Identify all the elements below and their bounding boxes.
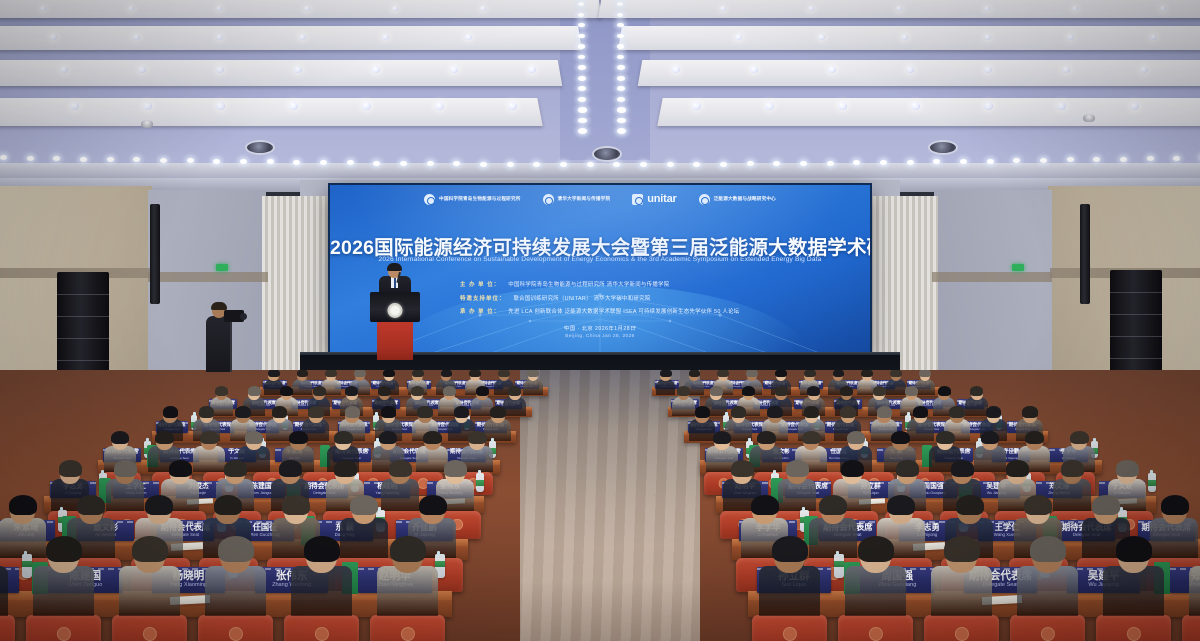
audience-chair xyxy=(1096,615,1171,641)
attendee-hair xyxy=(819,495,847,516)
cove-light-dot xyxy=(400,161,407,166)
water-bottle xyxy=(1148,473,1156,493)
attendee-hair xyxy=(877,406,893,417)
attendee-hair xyxy=(896,460,918,477)
attendee-hair xyxy=(767,406,783,417)
spine-light-dot xyxy=(578,128,587,134)
cove-light-dot xyxy=(827,161,834,166)
attendee-hair xyxy=(887,495,915,516)
audience-chair xyxy=(1010,615,1085,641)
exit-sign-right xyxy=(1012,264,1024,271)
right-gray-dado xyxy=(932,272,1052,282)
organizer-value: 联合国训练研究所（UNITAR） 清华大学碳中和研究院 xyxy=(513,294,650,302)
audience-member xyxy=(205,539,268,613)
organizer-row: 承 办 单 位：先进 LCA 创新联合体 泛能源大数据学术联盟 ISEA 可持续… xyxy=(460,307,860,315)
cove-light-dot xyxy=(560,162,567,167)
spine-light-dot xyxy=(617,2,623,6)
conference-title-english: 2026 International Conference on Sustain… xyxy=(330,256,870,263)
attendee-hair xyxy=(454,406,470,417)
attendee-hair xyxy=(695,406,711,417)
ceiling-step-left-3 xyxy=(0,60,562,86)
cove-light-dot xyxy=(693,162,700,167)
attendee-hair xyxy=(717,370,729,377)
downlight-icon xyxy=(216,34,223,40)
organizer-label: 主 办 单 位： xyxy=(460,280,500,288)
ceiling-step-left-4 xyxy=(0,98,543,126)
attendee-hair xyxy=(936,431,955,445)
downlight-icon xyxy=(450,66,458,73)
attendee-torso xyxy=(0,566,8,617)
spine-light-dot xyxy=(578,34,585,38)
attendee-hair xyxy=(9,495,37,516)
cove-light-dot xyxy=(213,159,220,164)
attendee-hair xyxy=(802,431,821,445)
attendee-hair xyxy=(751,495,779,516)
seat-number-badge xyxy=(229,627,243,641)
attendee-hair xyxy=(378,386,391,396)
audience-chair xyxy=(284,615,359,641)
downlight-icon xyxy=(1150,34,1157,40)
attendee-torso xyxy=(759,566,820,617)
left-gray-dado xyxy=(148,272,268,282)
unitar-logo-icon xyxy=(632,194,643,205)
downlight-icon xyxy=(289,102,298,110)
downlight-icon xyxy=(672,66,680,73)
downlight-icon xyxy=(528,66,536,73)
attendee-hair xyxy=(757,431,776,445)
attendee-hair xyxy=(1030,536,1066,562)
attendee-hair xyxy=(1025,431,1044,445)
seat-number-badge xyxy=(1127,627,1141,641)
bottle-label xyxy=(476,480,484,486)
downlight-icon xyxy=(1057,102,1066,110)
seat-number-badge xyxy=(57,627,71,641)
downlight-icon xyxy=(692,102,701,110)
attendee-hair xyxy=(775,370,787,377)
attendee-hair xyxy=(689,370,701,377)
cove-light-dot xyxy=(107,157,114,162)
attendee-hair xyxy=(490,406,506,417)
downlight-icon xyxy=(896,6,902,11)
spine-light-dot xyxy=(578,65,586,70)
logo-text: 清华大学新闻与传播学院 xyxy=(558,197,611,202)
podium-base xyxy=(377,321,413,360)
attendee-hair xyxy=(200,431,219,445)
attendee-hair xyxy=(245,431,264,445)
attendee-hair xyxy=(441,370,453,377)
cove-light-dot xyxy=(907,160,914,165)
attendee-hair xyxy=(847,431,866,445)
audience-member xyxy=(377,539,440,613)
camera-lens-icon xyxy=(240,313,247,320)
attendee-hair xyxy=(199,406,215,417)
speaker-stack-left xyxy=(57,272,109,382)
attendee-hair xyxy=(423,431,442,445)
downlight-icon xyxy=(735,34,742,40)
attendee-hair xyxy=(956,495,984,516)
cove-light-dot xyxy=(1147,156,1154,161)
attendee-hair xyxy=(873,386,886,396)
cove-light-dot xyxy=(667,162,674,167)
cove-light-dot xyxy=(1120,157,1127,162)
attendee-hair xyxy=(111,431,130,445)
audience-member xyxy=(1103,539,1166,613)
attendee-hair xyxy=(772,536,808,562)
cove-light-dot xyxy=(427,161,434,166)
attendee-hair xyxy=(970,386,983,396)
attendee-hair xyxy=(268,370,280,377)
cove-light-dot xyxy=(720,162,727,167)
audience-chair xyxy=(0,615,15,641)
audience-member xyxy=(0,539,10,613)
downlight-icon xyxy=(911,102,920,110)
cove-light-dot xyxy=(987,159,994,164)
attendee-hair xyxy=(858,536,894,562)
ceiling-step-left-1 xyxy=(0,0,602,18)
downlight-icon xyxy=(304,6,310,11)
attendee-hair xyxy=(861,370,873,377)
attendee-hair xyxy=(354,370,366,377)
attendee-hair xyxy=(498,370,510,377)
cove-light-dot xyxy=(480,162,487,167)
operator-hair xyxy=(211,302,227,310)
tripod-leg xyxy=(230,322,232,372)
downlight-icon xyxy=(362,102,371,110)
attendee-torso xyxy=(291,566,352,617)
attendee-hair xyxy=(215,386,228,396)
attendee-hair xyxy=(841,460,863,477)
attendee-hair xyxy=(77,495,105,516)
audience-chair xyxy=(1182,615,1200,641)
attendee-hair xyxy=(235,406,251,417)
attendee-hair xyxy=(731,406,747,417)
downlight-icon xyxy=(838,102,847,110)
attendee-hair xyxy=(660,370,672,377)
ceiling-step-right-2 xyxy=(618,26,1200,50)
attendee-hair xyxy=(345,386,358,396)
logo-tsinghua-journalism: 清华大学新闻与传播学院 xyxy=(543,194,611,205)
podium-emblem-icon xyxy=(388,303,403,318)
organizer-info-block: 主 办 单 位：中国科学院青岛生物能源与过程研究所 清华大学新闻与传播学院特邀支… xyxy=(460,280,860,321)
attendee-torso xyxy=(33,566,94,617)
downlight-icon xyxy=(720,6,726,11)
bottle-label xyxy=(22,561,32,567)
downlight-icon xyxy=(128,6,134,11)
downlight-icon xyxy=(808,6,814,11)
attendee-hair xyxy=(280,386,293,396)
audience-chair xyxy=(838,615,913,641)
spine-light-dot xyxy=(578,76,586,81)
downlight-icon xyxy=(984,34,991,40)
seat-number-badge xyxy=(315,627,329,641)
downlight-icon xyxy=(1072,6,1078,11)
attendee-hair xyxy=(381,406,397,417)
attendee-hair xyxy=(840,406,856,417)
downlight-icon xyxy=(1062,66,1070,73)
attendee-hair xyxy=(807,386,820,396)
attendee-hair xyxy=(304,536,340,562)
spine-light-dot xyxy=(617,34,624,38)
line-array-speaker-left xyxy=(150,204,160,304)
logo-unitar: unitar xyxy=(632,194,676,205)
attendee-hair xyxy=(282,495,310,516)
attendee-hair xyxy=(325,370,337,377)
attendee-hair xyxy=(1092,495,1120,516)
spine-light-dot xyxy=(617,65,625,70)
audience-seating-area: 期待会代表席Delegate Seat期待会代表席Delegate Seat期待… xyxy=(0,370,1200,641)
attendee-hair xyxy=(169,460,191,477)
sponsor-logo-bar: 中国科学院青岛生物能源与过程研究所 清华大学新闻与传播学院 unitar 泛能源… xyxy=(330,194,870,205)
attendee-hair xyxy=(840,386,853,396)
audience-chair xyxy=(198,615,273,641)
attendee-hair xyxy=(297,370,309,377)
speaker-stack-right xyxy=(1110,270,1162,382)
attendee-hair xyxy=(412,370,424,377)
attendee-hair xyxy=(289,431,308,445)
attendee-hair xyxy=(746,370,758,377)
seat-number-badge xyxy=(1041,627,1055,641)
attendee-hair xyxy=(444,460,466,477)
cove-light-dot xyxy=(53,156,60,161)
audience-member xyxy=(759,539,822,613)
spine-light-dot xyxy=(578,44,585,49)
attendee-hair xyxy=(334,431,353,445)
attendee-hair xyxy=(913,406,929,417)
attendee-hair xyxy=(350,495,378,516)
cove-light-dot xyxy=(133,157,140,162)
cove-light-dot xyxy=(1067,157,1074,162)
attendee-hair xyxy=(1024,495,1052,516)
attendee-hair xyxy=(986,406,1002,417)
downlight-icon xyxy=(765,102,774,110)
presenter-tie xyxy=(394,278,397,288)
attendee-torso xyxy=(205,566,266,617)
spine-light-dot xyxy=(617,97,625,102)
downlight-icon xyxy=(465,34,472,40)
attendee-hair xyxy=(476,386,489,396)
downlight-icon xyxy=(984,102,993,110)
downlight-icon xyxy=(133,34,140,40)
attendee-hair xyxy=(214,495,242,516)
attendee-hair xyxy=(938,386,951,396)
spine-light-dot xyxy=(617,118,626,124)
ceiling-center-spine xyxy=(560,0,650,160)
audience-chair xyxy=(26,615,101,641)
downlight-icon xyxy=(392,6,398,11)
attendee-hair xyxy=(1116,460,1138,477)
downlight-icon xyxy=(1140,66,1148,73)
logo-text: unitar xyxy=(647,194,676,205)
attendee-hair xyxy=(224,460,246,477)
attendee-hair xyxy=(334,460,356,477)
downlight-icon xyxy=(1160,6,1166,11)
attendee-hair xyxy=(114,460,136,477)
attendee-torso xyxy=(377,566,438,617)
downlight-icon xyxy=(216,66,224,73)
spine-light-dot xyxy=(578,23,585,27)
attendee-hair xyxy=(949,406,965,417)
downlight-icon xyxy=(1130,102,1139,110)
cove-light-dot xyxy=(800,161,807,166)
attendee-hair xyxy=(710,386,723,396)
line-array-speaker-right xyxy=(1080,204,1090,304)
attendee-hair xyxy=(155,431,174,445)
cove-light-dot xyxy=(27,156,34,161)
seat-number-badge xyxy=(783,627,797,641)
downlight-icon xyxy=(818,34,825,40)
cove-light-dot xyxy=(587,162,594,167)
downlight-icon xyxy=(750,66,758,73)
attendee-torso xyxy=(931,566,992,617)
attendee-hair xyxy=(919,370,931,377)
attendee-hair xyxy=(46,536,82,562)
attendee-torso xyxy=(1017,566,1078,617)
attendee-hair xyxy=(443,386,456,396)
cove-light-dot xyxy=(1040,158,1047,163)
attendee-hair xyxy=(248,386,261,396)
attendee-hair xyxy=(944,536,980,562)
attendee-hair xyxy=(390,536,426,562)
tsinghua-journalism-logo-icon xyxy=(543,194,554,205)
audience-chair xyxy=(752,615,827,641)
downlight-icon xyxy=(901,34,908,40)
water-bottle xyxy=(476,473,484,493)
spine-light-dot xyxy=(617,128,626,134)
attendee-hair xyxy=(731,460,753,477)
cove-light-dot xyxy=(1173,156,1180,161)
attendee-hair xyxy=(419,495,447,516)
attendee-hair xyxy=(345,406,361,417)
cas-institute-logo-icon xyxy=(424,194,435,205)
attendee-hair xyxy=(951,460,973,477)
attendee-hair xyxy=(508,386,521,396)
cove-light-dot xyxy=(507,162,514,167)
spine-light-dot xyxy=(617,107,626,113)
downlight-icon xyxy=(299,34,306,40)
downlight-icon xyxy=(60,66,68,73)
audience-member xyxy=(33,539,96,613)
camera-operator xyxy=(196,300,244,386)
downlight-icon xyxy=(294,66,302,73)
attendee-torso xyxy=(119,566,180,617)
spine-light-dot xyxy=(617,13,623,17)
downlight-icon xyxy=(984,6,990,11)
presenter-hair xyxy=(387,263,402,271)
speaking-podium xyxy=(370,292,420,360)
organizer-row: 特邀支持单位：联合国训练研究所（UNITAR） 清华大学碳中和研究院 xyxy=(460,294,860,302)
audience-member xyxy=(119,539,182,613)
attendee-hair xyxy=(1061,460,1083,477)
attendee-hair xyxy=(218,536,254,562)
spine-light-dot xyxy=(578,97,586,102)
downlight-icon xyxy=(216,6,222,11)
attendee-hair xyxy=(804,406,820,417)
attendee-hair xyxy=(905,386,918,396)
attendee-hair xyxy=(981,431,1000,445)
cove-light-dot xyxy=(0,155,7,160)
ceiling-ledge-lights xyxy=(0,150,1200,162)
attendee-hair xyxy=(1070,431,1089,445)
downlight-icon xyxy=(143,102,152,110)
organizer-label: 特邀支持单位： xyxy=(460,294,505,302)
cove-light-dot xyxy=(373,161,380,166)
cove-light-dot xyxy=(640,162,647,167)
attendee-hair xyxy=(389,460,411,477)
organizer-value: 先进 LCA 创新联合体 泛能源大数据学术联盟 ISEA 可持续发展创新生态先学… xyxy=(508,307,739,315)
ceiling-dome-camera-left xyxy=(141,120,153,128)
attendee-hair xyxy=(379,431,398,445)
organizer-label: 承 办 单 位： xyxy=(460,307,500,315)
cove-light-dot xyxy=(80,157,87,162)
logo-text: 泛能源大数据与战略研究中心 xyxy=(714,197,776,202)
bottle-label xyxy=(1148,480,1156,486)
attendee-hair xyxy=(272,406,288,417)
ceiling-step-right-3 xyxy=(638,60,1200,86)
attendee-hair xyxy=(383,370,395,377)
organizer-row: 主 办 单 位：中国科学院青岛生物能源与过程研究所 清华大学新闻与传播学院 xyxy=(460,280,860,288)
downlight-icon xyxy=(40,6,46,11)
ceiling-dome-camera-right xyxy=(1083,114,1095,122)
downlight-icon xyxy=(50,34,57,40)
water-bottle xyxy=(834,554,844,578)
attendee-hair xyxy=(786,460,808,477)
attendee-hair xyxy=(1022,406,1038,417)
downlight-icon xyxy=(382,34,389,40)
ceiling-ledge xyxy=(0,163,1200,178)
downlight-icon xyxy=(70,102,79,110)
spine-light-dot xyxy=(578,118,587,124)
audience-member xyxy=(1017,539,1080,613)
cove-light-dot xyxy=(1093,157,1100,162)
logo-text: 中国科学院青岛生物能源与过程研究所 xyxy=(439,197,521,202)
attendee-hair xyxy=(713,431,732,445)
attendee-hair xyxy=(890,370,902,377)
attendee-torso xyxy=(845,566,906,617)
bottle-label xyxy=(834,561,844,567)
attendee-hair xyxy=(163,406,179,417)
downlight-icon xyxy=(508,102,517,110)
ceiling-step-right-4 xyxy=(657,98,1200,126)
attendee-torso xyxy=(1189,566,1200,617)
downlight-icon xyxy=(138,66,146,73)
downlight-icon xyxy=(1067,34,1074,40)
attendee-hair xyxy=(313,386,326,396)
spine-light-dot xyxy=(578,13,584,17)
seat-number-badge xyxy=(401,627,415,641)
seat-number-badge xyxy=(143,627,157,641)
audience-chair xyxy=(924,615,999,641)
attendee-hair xyxy=(775,386,788,396)
cove-light-dot xyxy=(293,160,300,165)
downlight-icon xyxy=(480,6,486,11)
spine-light-dot xyxy=(617,76,625,81)
attendee-hair xyxy=(742,386,755,396)
attendee-hair xyxy=(132,536,168,562)
spine-light-dot xyxy=(617,23,624,27)
attendee-hair xyxy=(1006,460,1028,477)
audience-member xyxy=(1189,539,1200,613)
downlight-icon xyxy=(435,102,444,110)
operator-body xyxy=(206,316,232,372)
audience-member xyxy=(931,539,994,613)
audience-member xyxy=(291,539,354,613)
attendee-hair xyxy=(833,370,845,377)
attendee-hair xyxy=(279,460,301,477)
ceiling xyxy=(0,0,1200,178)
attendee-hair xyxy=(59,460,81,477)
attendee-hair xyxy=(468,431,487,445)
logo-cas-institute: 中国科学院青岛生物能源与过程研究所 xyxy=(424,194,521,205)
